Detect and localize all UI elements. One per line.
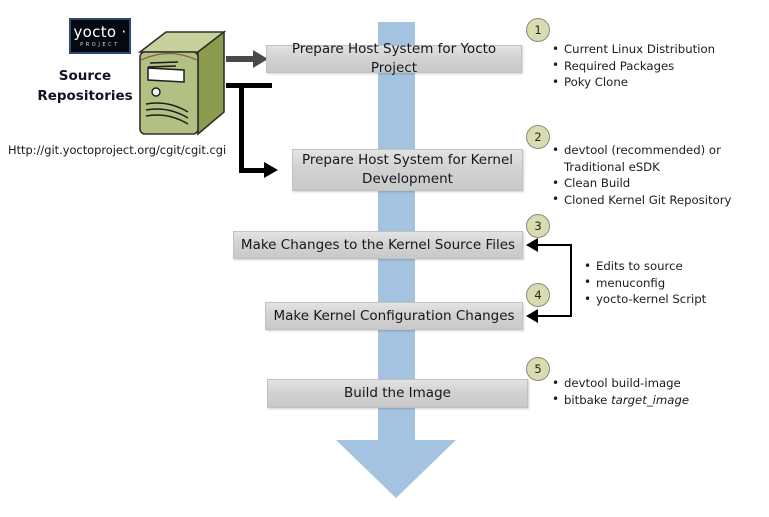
yocto-logo-wordmark: yocto · [74, 25, 127, 40]
step1-notes: Current Linux Distribution Required Pack… [551, 41, 715, 91]
server-tower-icon [136, 30, 228, 138]
source-repositories-url: Http://git.yoctoproject.org/cgit/cgit.cg… [8, 143, 226, 157]
step34-note-item: Edits to source [583, 258, 706, 275]
step-box-build-the-image[interactable]: Build the Image [267, 379, 528, 408]
step-number-2: 2 [526, 125, 550, 149]
step-number-5: 5 [526, 357, 550, 381]
bracket-34-horizontal-bottom [538, 315, 572, 317]
step1-note-item: Current Linux Distribution [551, 41, 715, 58]
step-box-make-changes-kernel-source[interactable]: Make Changes to the Kernel Source Files [233, 231, 523, 259]
connector-server-to-step2-vertical [239, 83, 244, 170]
server-tower-icon-svg [136, 30, 228, 138]
flow-spine-arrowhead [336, 440, 456, 498]
yocto-project-logo: yocto · PROJECT [69, 18, 131, 54]
step34-note-item: yocto-kernel Script [583, 291, 706, 308]
step-box-prepare-host-yocto[interactable]: Prepare Host System for Yocto Project [266, 45, 522, 73]
step2-note-item: devtool (recommended) or Traditional eSD… [551, 142, 731, 175]
step-number-1: 1 [526, 18, 550, 42]
step-box-prepare-host-kernel-label: Prepare Host System for Kernel Developme… [302, 151, 513, 189]
step1-note-item: Required Packages [551, 58, 715, 75]
step2-note-item: Clean Build [551, 175, 731, 192]
connector-server-to-step2-horizontal-top [226, 83, 272, 88]
step2-note-item: Cloned Kernel Git Repository [551, 192, 731, 209]
connector-server-to-step2-horizontal-bottom [239, 168, 267, 173]
connector-server-to-step2-arrowhead [264, 162, 278, 178]
step-number-4: 4 [526, 283, 550, 307]
bracket-34-vertical [570, 244, 572, 317]
step5-note-item: devtool build-image [551, 375, 689, 392]
yocto-logo-subtext: PROJECT [80, 42, 120, 48]
step-box-make-kernel-config-changes[interactable]: Make Kernel Configuration Changes [265, 302, 523, 330]
step2-notes: devtool (recommended) or Traditional eSD… [551, 142, 731, 208]
step-number-3: 3 [526, 214, 550, 238]
step1-note-item: Poky Clone [551, 74, 715, 91]
step5-note-item: bitbake target_image [551, 392, 689, 409]
bracket-34-arrowhead-to-step3 [526, 238, 538, 252]
bracket-34-arrowhead-to-step4 [526, 309, 538, 323]
bracket-34-horizontal-top [538, 244, 572, 246]
connector-server-to-step1 [226, 56, 254, 62]
step5-note-target-image: target_image [611, 393, 689, 407]
step34-note-item: menuconfig [583, 275, 706, 292]
step-box-prepare-host-kernel[interactable]: Prepare Host System for Kernel Developme… [292, 149, 523, 191]
step5-notes: devtool build-image bitbake target_image [551, 375, 689, 408]
source-repositories-label: Source Repositories [30, 66, 140, 106]
step34-shared-notes: Edits to source menuconfig yocto-kernel … [583, 258, 706, 308]
step5-note-bitbake-prefix: bitbake [564, 393, 611, 407]
diagram-canvas: yocto · PROJECT Source Repositories Http… [0, 0, 769, 517]
